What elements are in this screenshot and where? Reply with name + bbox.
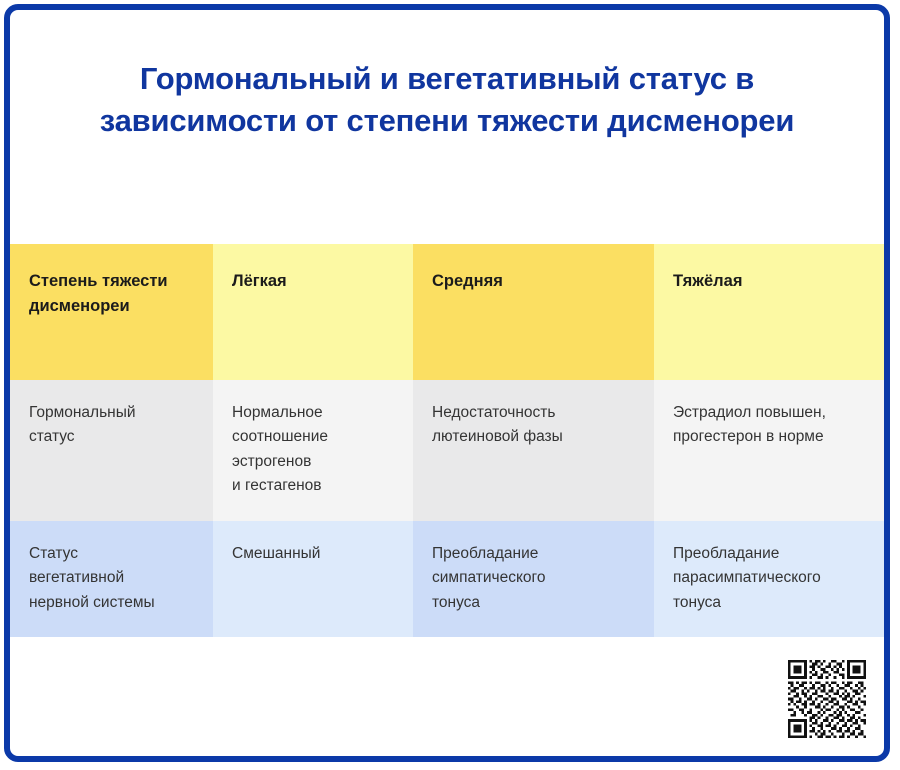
cell-line: Гормональный [29, 401, 193, 425]
table-header-row: Степень тяжести дисменореи Лёгкая Средня… [10, 244, 884, 380]
row-label-autonomic-status: Статус вегетативной нервной системы [10, 521, 213, 637]
cell-line: и гестагенов [232, 474, 393, 498]
table-body: Гормональный статус Нормальное соотношен… [10, 380, 884, 637]
cell-line: статус [29, 425, 193, 449]
column-header-moderate: Средняя [413, 244, 654, 380]
cell-line: соотношение [232, 425, 393, 449]
cell-line: нервной системы [29, 591, 193, 615]
cell-line: эстрогенов [232, 450, 393, 474]
row-label-hormonal-status: Гормональный статус [10, 380, 213, 521]
column-header-severe: Тяжёлая [654, 244, 884, 380]
page-title: Гормональный и вегетативный статус в зав… [10, 10, 884, 141]
cell-autonomic-mild: Смешанный [213, 521, 413, 637]
cell-line: Недостаточность [432, 401, 634, 425]
cell-line: Смешанный [232, 542, 393, 566]
cell-line: тонуса [673, 591, 864, 615]
cell-line: Преобладание [673, 542, 864, 566]
status-table: Степень тяжести дисменореи Лёгкая Средня… [10, 244, 884, 637]
column-header-mild: Лёгкая [213, 244, 413, 380]
cell-line: Преобладание [432, 542, 634, 566]
cell-line: прогестерон в норме [673, 425, 864, 449]
qr-code-icon[interactable] [788, 660, 866, 738]
cell-line: Нормальное [232, 401, 393, 425]
table-row: Статус вегетативной нервной системы Смеш… [10, 521, 884, 637]
cell-line: Эстрадиол повышен, [673, 401, 864, 425]
cell-line: тонуса [432, 591, 634, 615]
table-row: Гормональный статус Нормальное соотношен… [10, 380, 884, 521]
table-head: Степень тяжести дисменореи Лёгкая Средня… [10, 244, 884, 380]
cell-autonomic-severe: Преобладание парасимпатического тонуса [654, 521, 884, 637]
cell-line: лютеиновой фазы [432, 425, 634, 449]
card-inner: Гормональный и вегетативный статус в зав… [10, 10, 884, 756]
cell-autonomic-moderate: Преобладание симпатического тонуса [413, 521, 654, 637]
cell-line: парасимпатического [673, 566, 864, 590]
cell-line: вегетативной [29, 566, 193, 590]
cell-line: симпатического [432, 566, 634, 590]
cell-hormonal-moderate: Недостаточность лютеиновой фазы [413, 380, 654, 521]
info-card: Гормональный и вегетативный статус в зав… [4, 4, 890, 762]
cell-hormonal-mild: Нормальное соотношение эстрогенов и гест… [213, 380, 413, 521]
cell-line: Статус [29, 542, 193, 566]
column-header-severity: Степень тяжести дисменореи [10, 244, 213, 380]
cell-hormonal-severe: Эстрадиол повышен, прогестерон в норме [654, 380, 884, 521]
